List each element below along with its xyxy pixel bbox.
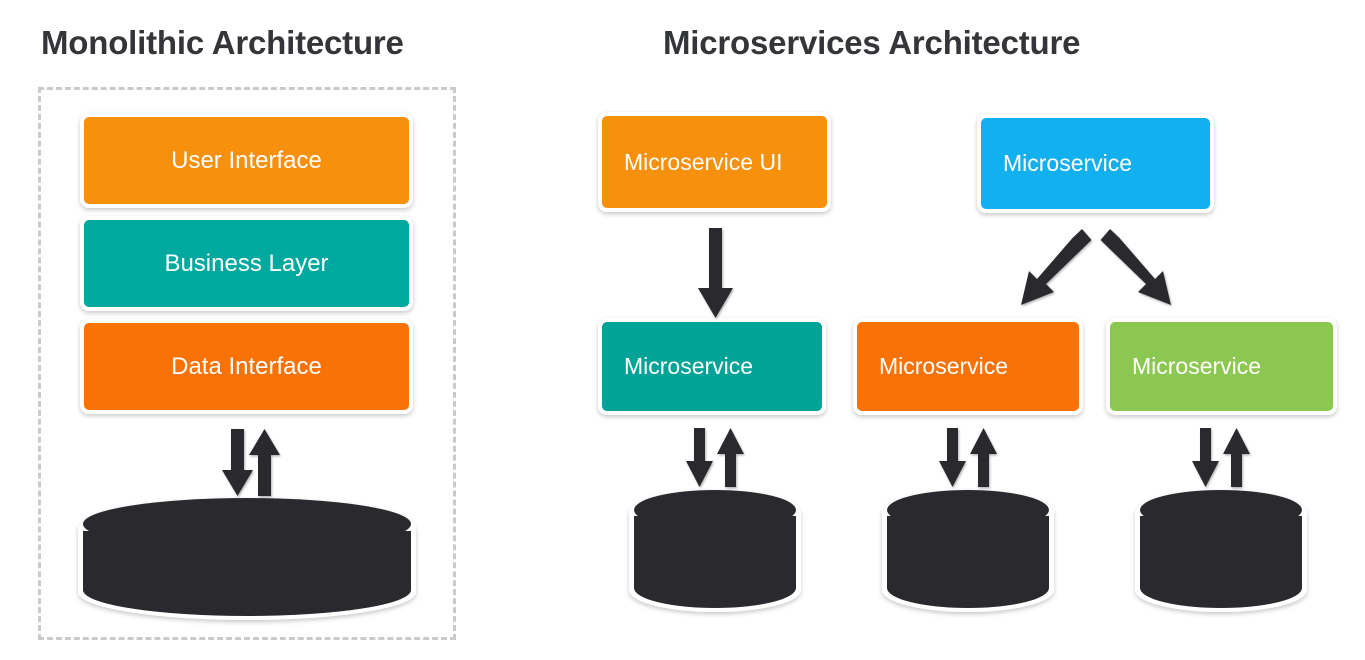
- layer-box-business-layer[interactable]: Business Layer: [80, 216, 413, 311]
- service-label-microservice-blue: Microservice: [1003, 152, 1132, 175]
- layer-label-user-interface: User Interface: [171, 149, 322, 173]
- layer-label-data-interface: Data Interface: [171, 355, 322, 379]
- arrow-microservice-orange-to-database-down: [939, 428, 966, 487]
- service-label-microservice-ui: Microservice UI: [624, 151, 782, 174]
- arrow-blue-to-microservice-green: [1101, 229, 1172, 305]
- service-box-microservice-green[interactable]: Microservice: [1106, 318, 1337, 415]
- service-box-microservice-orange[interactable]: Microservice: [853, 318, 1083, 415]
- arrow-database-to-microservice-green-up: [1223, 428, 1250, 487]
- service-box-microservice-ui[interactable]: Microservice UI: [598, 112, 831, 212]
- monolithic-title: Monolithic Architecture: [41, 24, 404, 62]
- service-box-microservice-teal[interactable]: Microservice: [598, 318, 826, 415]
- service-label-microservice-green: Microservice: [1132, 355, 1261, 378]
- arrow-microservice-teal-to-database-down: [686, 428, 713, 487]
- layer-label-business-layer: Business Layer: [164, 252, 328, 276]
- arrow-ui-to-microservice-teal: [698, 228, 733, 318]
- arrow-database-to-microservice-teal-up: [717, 428, 744, 487]
- service-label-microservice-teal: Microservice: [624, 355, 753, 378]
- database-cylinder-orange: [882, 490, 1054, 612]
- layer-box-data-interface[interactable]: Data Interface: [80, 319, 413, 414]
- service-label-microservice-orange: Microservice: [879, 355, 1008, 378]
- database-cylinder-teal: [629, 490, 801, 612]
- arrow-microservice-green-to-database-down: [1192, 428, 1219, 487]
- arrow-database-to-microservice-orange-up: [970, 428, 997, 487]
- arrow-blue-to-microservice-orange: [1021, 229, 1092, 305]
- microservices-title: Microservices Architecture: [663, 24, 1080, 62]
- diagram-canvas: Monolithic Architecture Microservices Ar…: [0, 0, 1365, 660]
- layer-box-user-interface[interactable]: User Interface: [80, 113, 413, 208]
- database-cylinder-green: [1135, 490, 1307, 612]
- service-box-microservice-blue[interactable]: Microservice: [977, 114, 1214, 213]
